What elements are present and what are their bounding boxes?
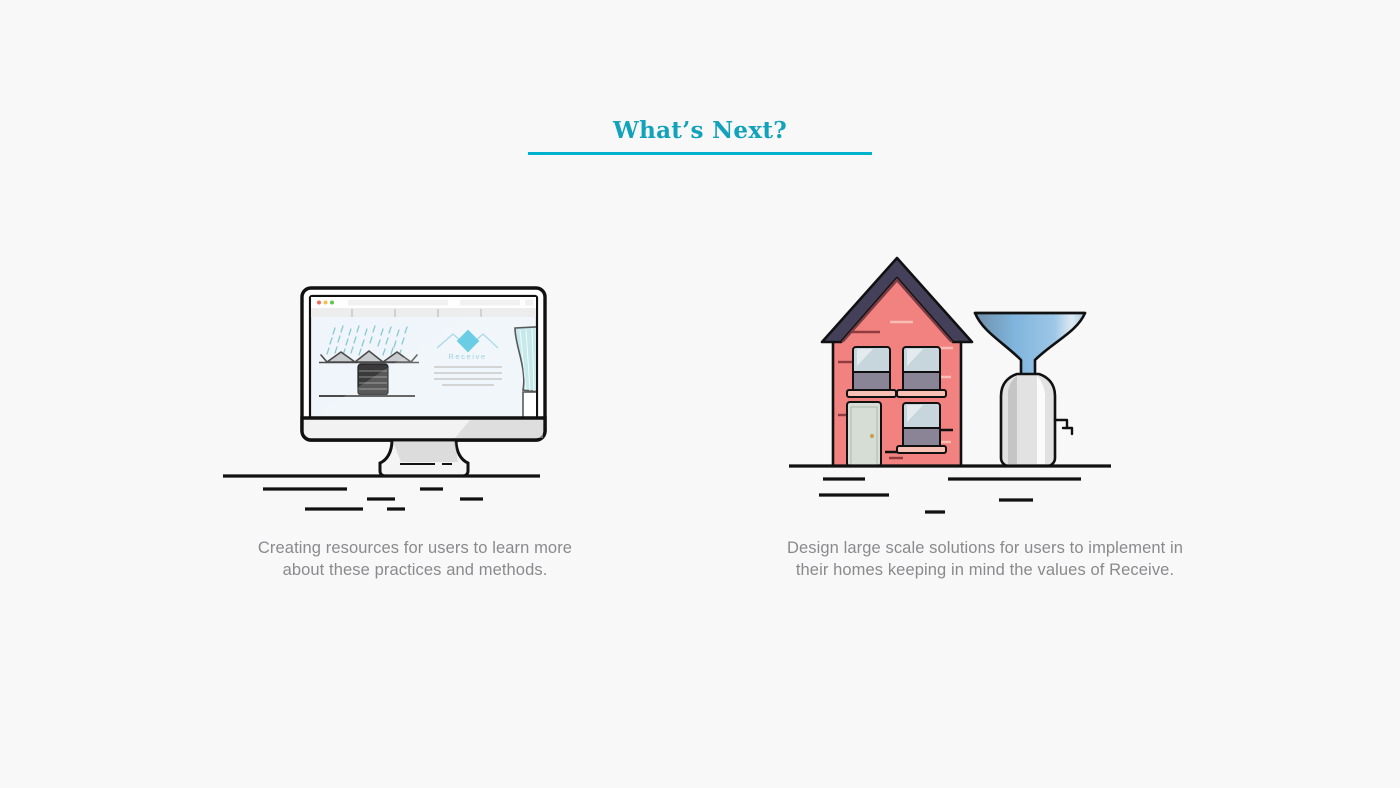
browser-dot-red (317, 301, 321, 305)
heading-underline (528, 152, 872, 155)
caption-right: Design large scale solutions for users t… (785, 538, 1185, 581)
window-top-right (897, 347, 946, 397)
tank-spigot (1055, 420, 1072, 434)
window-bottom-right (897, 403, 946, 453)
slide-root: What’s Next? (0, 0, 1400, 788)
water-tank (1001, 374, 1055, 466)
heading-block: What’s Next? (0, 118, 1400, 155)
house-door[interactable] (847, 402, 881, 466)
browser-navbar (311, 308, 536, 317)
monitor-stand-shade (393, 442, 458, 462)
water-funnel (975, 313, 1085, 376)
monitor-illustration: Receive (215, 250, 615, 530)
column-left: Receive (215, 250, 615, 581)
browser-action-bar (460, 300, 520, 306)
window-sill-top-left (847, 390, 896, 397)
browser-menu-button[interactable] (525, 300, 533, 306)
ground-dashes (263, 489, 483, 509)
monitor-body-shade (455, 420, 543, 438)
house-svg (785, 250, 1185, 530)
ground-dashes (819, 479, 1081, 512)
browser-address-bar (348, 300, 448, 306)
window-sill-top-right (897, 390, 946, 397)
caption-left: Creating resources for users to learn mo… (235, 538, 595, 581)
door-knob-icon (870, 434, 874, 438)
house-illustration (785, 250, 1185, 530)
browser-dot-green (330, 301, 334, 305)
window-top-left (847, 347, 896, 397)
monitor-svg: Receive (215, 250, 615, 530)
browser-dot-amber (324, 301, 328, 305)
window-sill-bottom-right (897, 446, 946, 453)
page-title: What’s Next? (0, 118, 1400, 144)
column-right: Design large scale solutions for users t… (785, 250, 1185, 581)
